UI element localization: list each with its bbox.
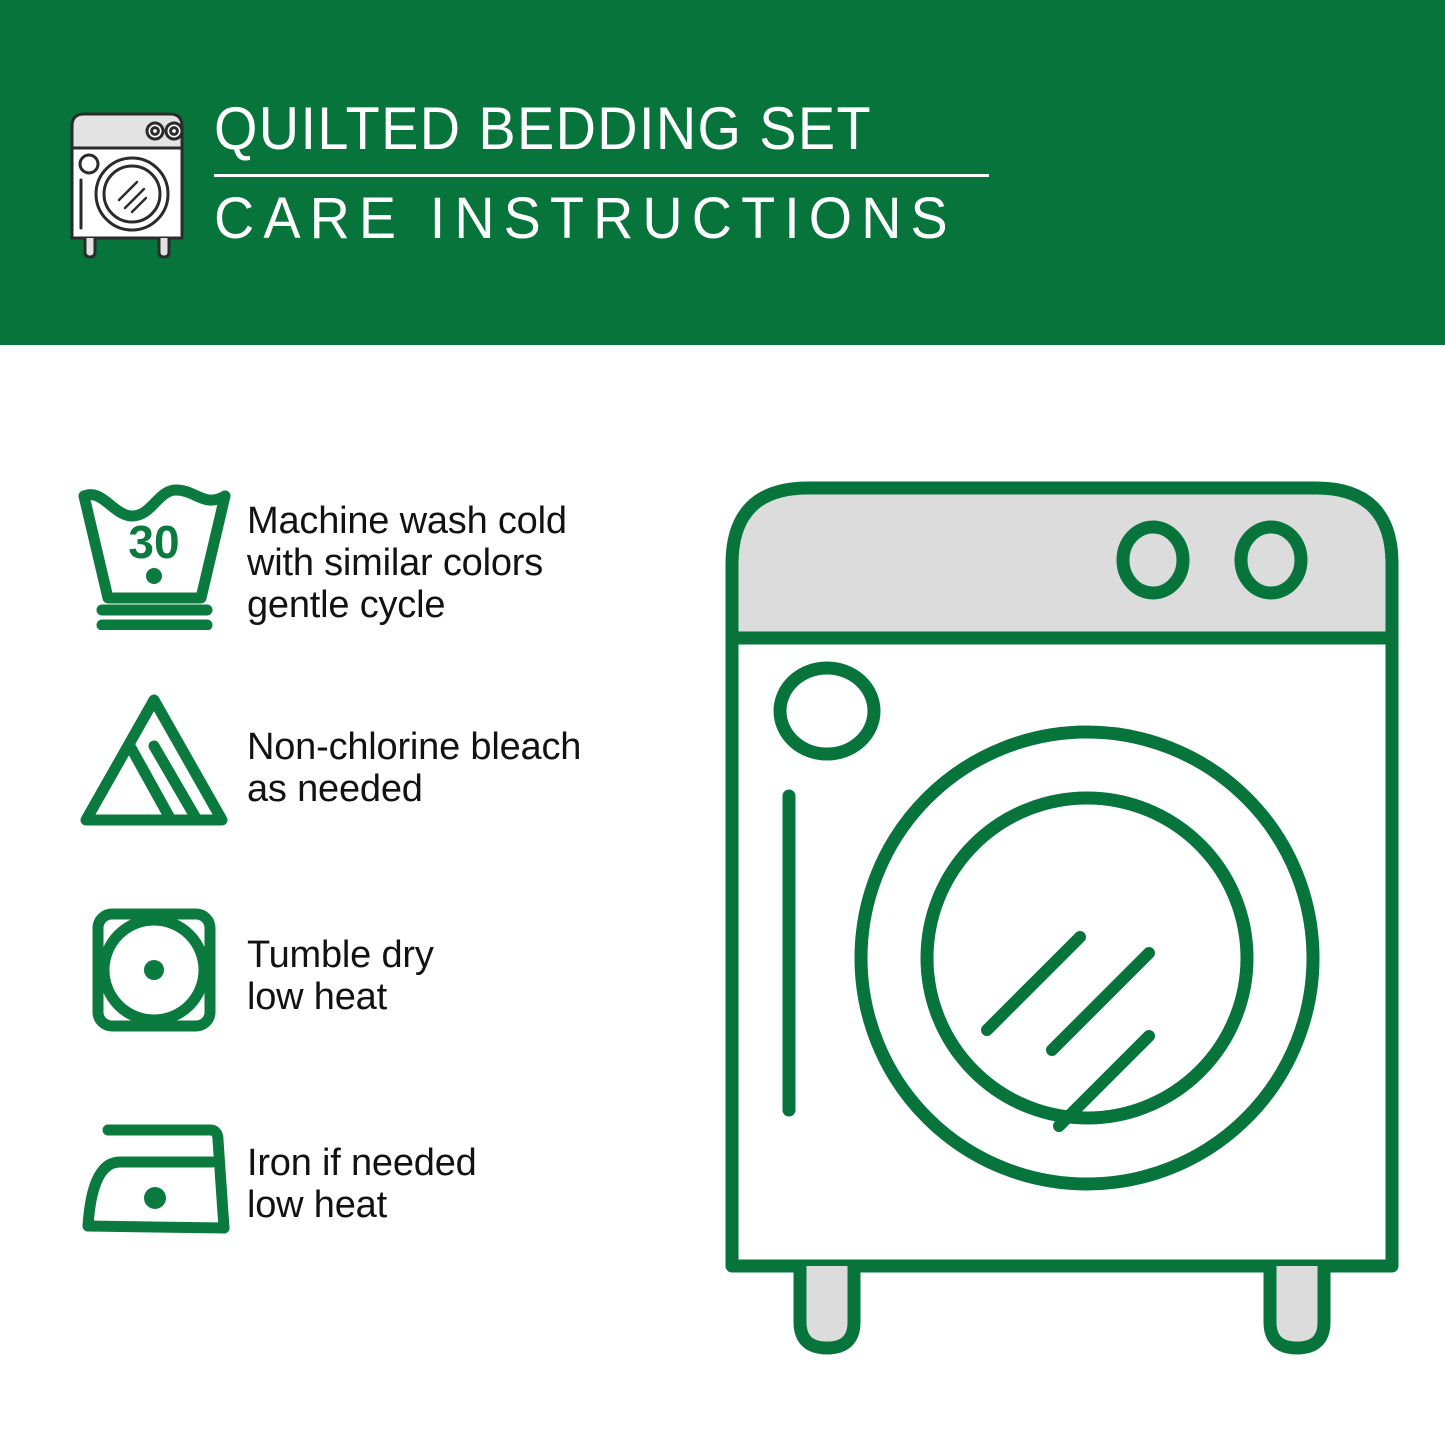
care-line: Non-chlorine bleach [247, 726, 702, 768]
care-row: 30 Machine wash cold with similar colors… [62, 470, 702, 678]
care-line: low heat [247, 1184, 702, 1226]
care-row: Non-chlorine bleach as needed [62, 678, 702, 886]
care-line: with similar colors [247, 542, 702, 584]
care-instruction-list: 30 Machine wash cold with similar colors… [62, 470, 702, 1302]
knob-right [1241, 527, 1301, 593]
page-subtitle: CARE INSTRUCTIONS [214, 189, 958, 249]
wash-temperature-value: 30 [128, 516, 179, 568]
wash-tub-30-gentle-icon: 30 [62, 470, 247, 630]
care-line: low heat [247, 976, 702, 1018]
leg-right [1270, 1266, 1324, 1348]
knob-left [1123, 527, 1183, 593]
iron-low-heat-icon [62, 1094, 247, 1254]
detergent-dispenser [780, 668, 874, 754]
care-line: as needed [247, 768, 702, 810]
leg-left [800, 1266, 854, 1348]
care-row: Tumble dry low heat [62, 886, 702, 1094]
page-title: QUILTED BEDDING SET [214, 98, 935, 160]
care-line: Tumble dry [247, 934, 702, 976]
washing-machine-icon [62, 100, 192, 262]
drum-door-inner-ring [927, 798, 1247, 1118]
header-titles: QUILTED BEDDING SET CARE INSTRUCTIONS [214, 96, 989, 249]
title-divider [214, 174, 989, 177]
care-row: Iron if needed low heat [62, 1094, 702, 1302]
care-row-text: Machine wash cold with similar colors ge… [247, 470, 702, 626]
non-chlorine-bleach-triangle-icon [62, 678, 247, 838]
header-content: QUILTED BEDDING SET CARE INSTRUCTIONS [62, 96, 989, 262]
care-row-text: Iron if needed low heat [247, 1094, 702, 1226]
care-line: gentle cycle [247, 584, 702, 626]
front-load-washing-machine-illustration [712, 468, 1412, 1368]
care-line: Machine wash cold [247, 500, 702, 542]
care-line: Iron if needed [247, 1142, 702, 1184]
care-row-text: Non-chlorine bleach as needed [247, 678, 702, 810]
header-banner: QUILTED BEDDING SET CARE INSTRUCTIONS [0, 0, 1445, 345]
tumble-dry-low-icon [62, 886, 247, 1046]
care-row-text: Tumble dry low heat [247, 886, 702, 1018]
care-instructions-page: QUILTED BEDDING SET CARE INSTRUCTIONS 30 [0, 0, 1445, 1445]
